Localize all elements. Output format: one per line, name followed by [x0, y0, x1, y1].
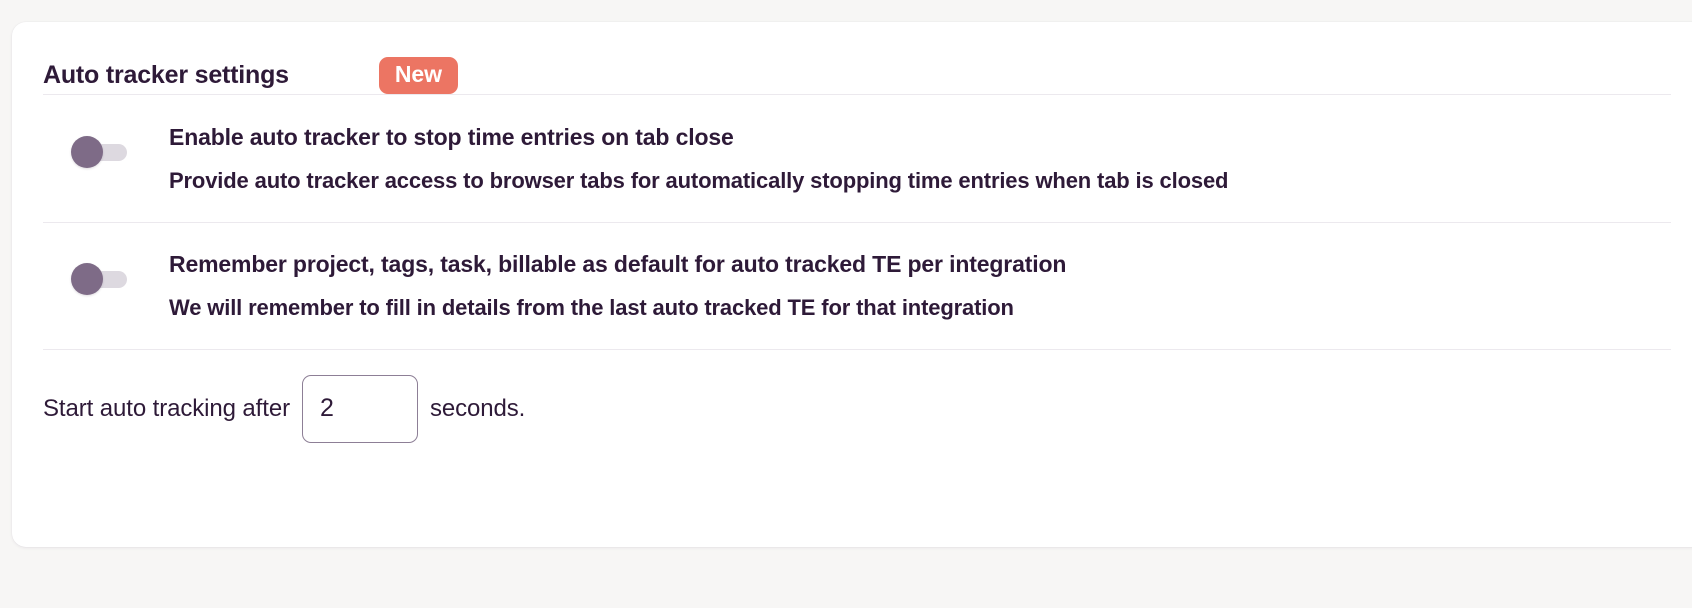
setting-description: We will remember to fill in details from… — [169, 294, 1066, 322]
setting-row-remember-defaults: Remember project, tags, task, billable a… — [12, 223, 1692, 348]
setting-text-block: Remember project, tags, task, billable a… — [169, 250, 1066, 321]
setting-text-block: Enable auto tracker to stop time entries… — [169, 123, 1228, 194]
toggle-knob-icon — [71, 263, 103, 295]
page-title: Auto tracker settings — [43, 63, 289, 88]
setting-row-auto-tracker-tab-close: Enable auto tracker to stop time entries… — [12, 95, 1692, 222]
toggle-auto-tracker-tab-close[interactable] — [71, 132, 127, 172]
auto-tracking-delay-input[interactable] — [302, 375, 418, 443]
auto-tracking-delay-row: Start auto tracking after seconds. — [12, 350, 1692, 468]
status-badge-new: New — [379, 57, 458, 94]
setting-title: Remember project, tags, task, billable a… — [169, 250, 1066, 279]
card-header: Auto tracker settings New — [12, 22, 1692, 94]
auto-tracker-settings-card: Auto tracker settings New Enable auto tr… — [12, 22, 1692, 547]
auto-tracking-delay-label: Start auto tracking after — [43, 395, 290, 423]
toggle-knob-icon — [71, 136, 103, 168]
setting-description: Provide auto tracker access to browser t… — [169, 167, 1228, 195]
toggle-remember-defaults[interactable] — [71, 259, 127, 299]
setting-title: Enable auto tracker to stop time entries… — [169, 123, 1228, 152]
auto-tracking-delay-suffix: seconds. — [430, 395, 525, 423]
settings-page: Auto tracker settings New Enable auto tr… — [0, 0, 1692, 608]
